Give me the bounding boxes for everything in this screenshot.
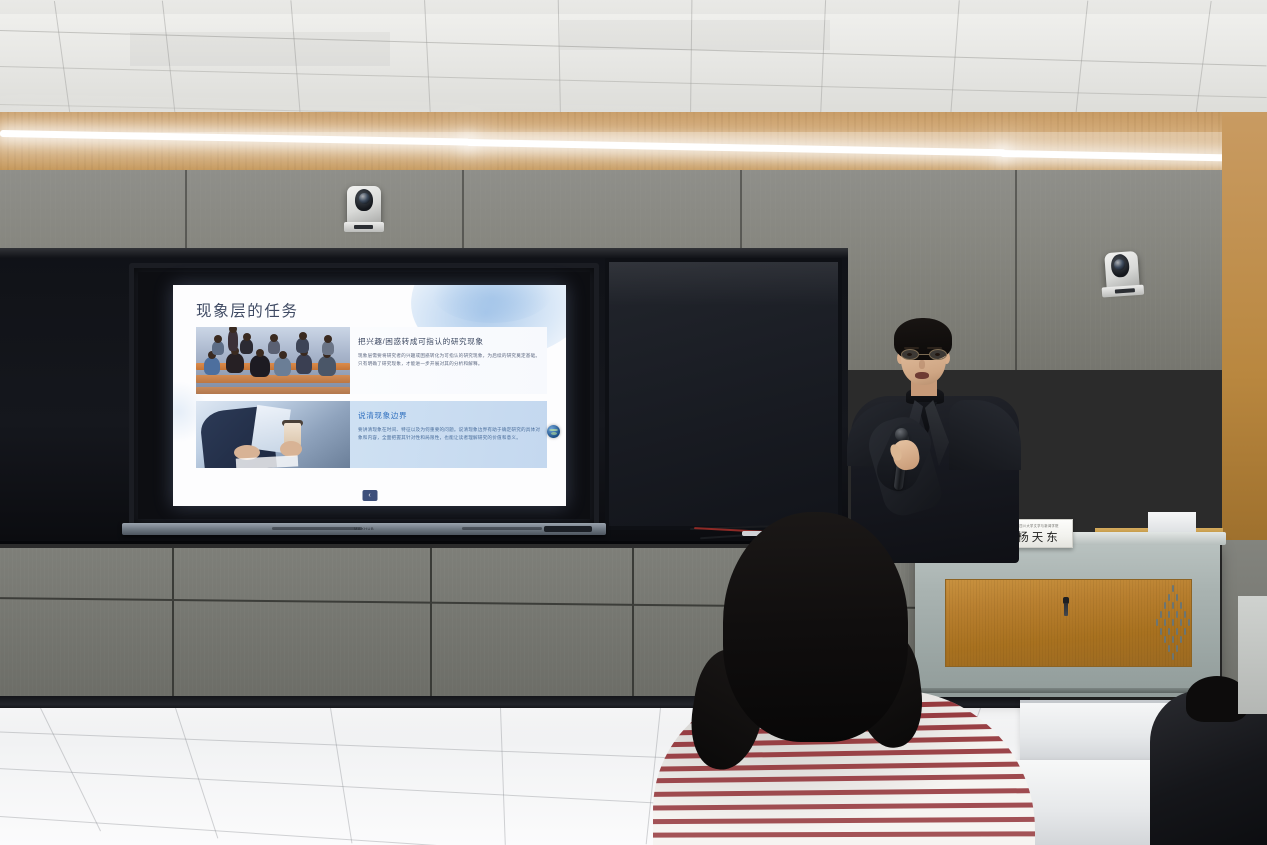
lectern-wood-grain: [991, 580, 992, 666]
lectern-wood-grain: [952, 580, 953, 666]
lectern-wood-grain: [1072, 580, 1073, 666]
grille-slot: [1180, 602, 1182, 609]
photo-student-head: [279, 351, 287, 359]
presentation-slide[interactable]: 现象层的任务 把兴趣/困惑转成可指认的研究现象 现象层需要将研究者的兴趣或困惑转…: [173, 285, 566, 506]
panel-grain-line: [604, 548, 605, 700]
panel-grain-line: [572, 548, 573, 700]
wall-grain-line: [1185, 170, 1186, 370]
lectern-wood-grain: [964, 580, 965, 666]
panel-grain-line: [288, 548, 289, 700]
photo-student: [250, 355, 270, 377]
right-wall-door[interactable]: [1238, 596, 1267, 714]
business-person-coffee-photo: [196, 401, 350, 468]
lectern-wood-grain: [1102, 580, 1103, 666]
lectern-wood-grain: [1018, 580, 1019, 666]
panel-grain-line: [260, 548, 261, 700]
panel-grain-line: [192, 548, 193, 700]
panel-grain-line: [240, 548, 241, 700]
panel-grain-line: [0, 548, 1, 700]
photo-student-head: [324, 335, 332, 343]
photo-desk-row: [196, 375, 350, 383]
lectern-wood-grain: [949, 580, 950, 666]
panel-grain-line: [352, 548, 353, 700]
lectern-wood-grain: [955, 580, 956, 666]
panel-grain-line: [484, 548, 485, 700]
ceiling-tile-shade: [130, 32, 390, 66]
lectern-wood-grain: [1111, 580, 1112, 666]
lectern-wood-grain: [961, 580, 962, 666]
panel-grain-line: [256, 548, 257, 700]
grille-slot: [1176, 594, 1178, 601]
lectern-wood-grain: [1138, 580, 1139, 666]
grille-slot: [1164, 602, 1166, 609]
lectern-wood-grain: [1045, 580, 1046, 666]
panel-grain-line: [432, 548, 433, 700]
lectern-wood-grain: [1024, 580, 1025, 666]
secondary-display-off[interactable]: [605, 258, 842, 530]
lectern-wood-grain: [1000, 580, 1001, 666]
photo-student: [274, 357, 291, 376]
panel-grain-line: [388, 548, 389, 700]
panel-grain-line: [608, 548, 609, 700]
panel-grain-line: [404, 548, 405, 700]
panel-grain-line: [336, 548, 337, 700]
lectern-wood-grain: [1126, 580, 1127, 666]
panel-grain-line: [24, 548, 25, 700]
panel-grain-line: [332, 548, 333, 700]
panel-grain-line: [444, 548, 445, 700]
ceiling-grid-line-v: [54, 1, 71, 118]
ceiling-grid-line-v: [950, 0, 960, 118]
lectern-wood-grain: [1144, 580, 1145, 666]
right-wall-wood-strip: [1222, 112, 1267, 552]
lectern-wood-grain: [1030, 580, 1031, 666]
wall-grain-line: [1205, 170, 1206, 370]
grille-slot: [1160, 611, 1162, 618]
lectern-wood-grain: [1060, 580, 1061, 666]
panel-grain-line: [516, 548, 517, 700]
wall-grain-line: [1170, 170, 1171, 370]
photo-student: [296, 354, 312, 374]
base-vent-left: [272, 527, 362, 530]
panel-grain-line: [536, 548, 537, 700]
lectern-wood-grain: [1048, 580, 1049, 666]
panel-grain-line: [520, 548, 521, 700]
lectern-wood-grain: [1108, 580, 1109, 666]
panel-grain-line: [264, 548, 265, 700]
wall-grain-line: [1060, 170, 1061, 370]
panel-grain-line: [8, 548, 9, 700]
panel-grain-line: [628, 548, 629, 700]
lectern-wood-grain: [1009, 580, 1010, 666]
panel-grain-line: [40, 548, 41, 700]
panel-grain-line: [344, 548, 345, 700]
panel-seam-vertical: [172, 548, 174, 700]
panel-grain-line: [152, 548, 153, 700]
panel-grain-line: [120, 548, 121, 700]
panel-grain-line: [496, 548, 497, 700]
panel-grain-line: [204, 548, 205, 700]
photo-student: [204, 357, 220, 375]
panel-grain-line: [408, 548, 409, 700]
lectern-wood-grain: [973, 580, 974, 666]
wall-grain-line: [1080, 170, 1081, 370]
panel-grain-line: [180, 548, 181, 700]
photo-student-head: [256, 349, 264, 357]
grille-slot: [1164, 636, 1166, 643]
photo-paper: [236, 455, 298, 468]
lectern-wood-grain: [1132, 580, 1133, 666]
slide-title: 现象层的任务: [196, 299, 299, 321]
panel-grain-line: [372, 548, 373, 700]
panel-grain-line: [136, 548, 137, 700]
panel-grain-line: [176, 548, 177, 700]
panel-grain-line: [132, 548, 133, 700]
wall-grain-line: [1075, 170, 1076, 370]
panel-grain-line: [376, 548, 377, 700]
panel-grain-line: [500, 548, 501, 700]
lectern-wood-grain: [1096, 580, 1097, 666]
panel-grain-line: [276, 548, 277, 700]
display-brand-label: MAXHUB: [354, 526, 374, 531]
lectern-wood-grain: [1105, 580, 1106, 666]
panel-grain-line: [168, 548, 169, 700]
panel-grain-line: [620, 548, 621, 700]
grille-slot: [1172, 602, 1174, 609]
panel-grain-line: [364, 548, 365, 700]
panel-grain-line: [480, 548, 481, 700]
grille-slot: [1184, 628, 1186, 635]
panel-grain-line: [108, 548, 109, 700]
audience-member-striped-top: [645, 660, 1045, 845]
lectern-wood-grain: [994, 580, 995, 666]
grille-slot: [1168, 611, 1170, 618]
panel-grain-line: [468, 548, 469, 700]
panel-grain-line: [268, 548, 269, 700]
wall-grain-line: [1090, 170, 1091, 370]
panel-grain-line: [324, 548, 325, 700]
panel-grain-line: [564, 548, 565, 700]
panel-grain-line: [360, 548, 361, 700]
glasses-bridge: [919, 354, 929, 355]
lectern-wood-grain: [1054, 580, 1055, 666]
lectern-wood-grain: [988, 580, 989, 666]
lectern-wood-grain: [1015, 580, 1016, 666]
panel-grain-line: [244, 548, 245, 700]
panel-grain-line: [528, 548, 529, 700]
panel-grain-line: [212, 548, 213, 700]
panel-grain-line: [464, 548, 465, 700]
lectern-wood-grain: [1084, 580, 1085, 666]
lectern-wood-grain: [1150, 580, 1151, 666]
lectern-wood-grain: [1027, 580, 1028, 666]
wall-grain-line: [1055, 170, 1056, 370]
panel-grain-line: [156, 548, 157, 700]
panel-grain-line: [548, 548, 549, 700]
panel-grain-line: [512, 548, 513, 700]
panel-grain-line: [160, 548, 161, 700]
lectern-wood-grain: [1063, 580, 1064, 666]
photo-student-head: [243, 333, 251, 341]
ceiling-tile-shade: [560, 20, 830, 50]
slide-previous-label: ‹: [368, 492, 370, 499]
panel-grain-line: [560, 548, 561, 700]
grille-slot: [1168, 594, 1170, 601]
ceiling-grid-line-v: [820, 0, 826, 118]
slide-card-2: 说清现象边界 要讲清现象在时间、特征以及为何重要的问题。说清现象边界有助于确定研…: [196, 401, 547, 468]
panel-grain-line: [28, 548, 29, 700]
base-vent-right: [462, 527, 542, 530]
panel-grain-line: [224, 548, 225, 700]
camera-lens: [359, 193, 370, 204]
panel-grain-line: [448, 548, 449, 700]
wall-grain-line: [1215, 170, 1216, 370]
panel-grain-line: [36, 548, 37, 700]
lectern-wood-grain: [976, 580, 977, 666]
photo-hand-right: [280, 441, 302, 457]
photo-student: [318, 356, 336, 376]
panel-grain-line: [80, 548, 81, 700]
panel-grain-line: [596, 548, 597, 700]
panel-grain-line: [84, 548, 85, 700]
wall-grain-line: [1180, 170, 1181, 370]
lectern-wood-grain: [982, 580, 983, 666]
panel-grain-line: [636, 548, 637, 700]
panel-grain-line: [48, 548, 49, 700]
screen-reflection: [609, 262, 838, 306]
panel-grain-line: [556, 548, 557, 700]
panel-grain-line: [72, 548, 73, 700]
wall-grain-line: [1085, 170, 1086, 370]
panel-grain-line: [452, 548, 453, 700]
panel-grain-line: [64, 548, 65, 700]
panel-grain-line: [356, 548, 357, 700]
grille-slot: [1160, 628, 1162, 635]
panel-grain-line: [428, 548, 429, 700]
grille-slot: [1184, 611, 1186, 618]
panel-grain-line: [476, 548, 477, 700]
lectern-wood-grain: [1093, 580, 1094, 666]
display-base-bar: MAXHUB: [122, 523, 606, 535]
panel-grain-line: [228, 548, 229, 700]
grille-slot: [1180, 636, 1182, 643]
panel-grain-line: [252, 548, 253, 700]
panel-grain-line: [540, 548, 541, 700]
lectern-wood-grain: [967, 580, 968, 666]
lectern-wood-grain: [958, 580, 959, 666]
panel-grain-line: [4, 548, 5, 700]
grille-slot: [1176, 645, 1178, 652]
lectern-wood-grain: [1141, 580, 1142, 666]
panel-grain-line: [584, 548, 585, 700]
panel-grain-line: [456, 548, 457, 700]
panel-grain-line: [312, 548, 313, 700]
panel-grain-line: [588, 548, 589, 700]
grille-slot: [1176, 611, 1178, 618]
presenter: [845, 318, 1050, 563]
panel-grain-line: [60, 548, 61, 700]
slide-card-2-text: 要讲清现象在时间、特征以及为何重要的问题。说清现象边界有助于确定研究的具体对象和…: [358, 426, 541, 443]
panel-grain-line: [100, 548, 101, 700]
lectern-wood-grain: [970, 580, 971, 666]
panel-grain-line: [576, 548, 577, 700]
panel-grain-line: [44, 548, 45, 700]
wall-grain-line: [1210, 170, 1211, 370]
ptz-camera-left: [341, 186, 387, 236]
panel-grain-line: [296, 548, 297, 700]
panel-grain-line: [248, 548, 249, 700]
lectern-speaker-grille: [1152, 585, 1192, 663]
slide-previous-button[interactable]: ‹: [362, 490, 377, 501]
panel-grain-line: [440, 548, 441, 700]
photo-student: [296, 338, 309, 353]
ceiling-grid-line-v: [424, 0, 431, 118]
display-control-keys[interactable]: [544, 526, 592, 532]
photo-student-head: [214, 335, 222, 343]
panel-grain-line: [640, 548, 641, 700]
grille-slot: [1164, 619, 1166, 626]
photo-desk-row: [196, 387, 350, 394]
ceiling: [0, 0, 1267, 118]
lectern-wood-grain: [1036, 580, 1037, 666]
panel-grain-line: [412, 548, 413, 700]
panel-grain-line: [320, 548, 321, 700]
panel-grain-line: [272, 548, 273, 700]
wall-grain-line: [1155, 170, 1156, 370]
lectern-wood-grain: [1006, 580, 1007, 666]
panel-grain-line: [208, 548, 209, 700]
panel-grain-line: [400, 548, 401, 700]
grille-slot: [1168, 628, 1170, 635]
panel-grain-line: [328, 548, 329, 700]
lectern-wood-grain: [946, 580, 947, 666]
lectern-wood-grain: [1099, 580, 1100, 666]
panel-grain-line: [592, 548, 593, 700]
ceiling-grid-line-v: [690, 0, 692, 118]
panel-seam-vertical: [632, 548, 634, 700]
main-display[interactable]: 现象层的任务 把兴趣/困惑转成可指认的研究现象 现象层需要将研究者的兴趣或困惑转…: [129, 263, 599, 528]
globe-icon[interactable]: [547, 425, 560, 438]
wall-grain-line: [1065, 170, 1066, 370]
panel-grain-line: [200, 548, 201, 700]
slide-card-2-body: 说清现象边界 要讲清现象在时间、特征以及为何重要的问题。说清现象边界有助于确定研…: [358, 401, 541, 468]
panel-grain-line: [96, 548, 97, 700]
housing-gloss: [0, 248, 848, 258]
panel-grain-line: [112, 548, 113, 700]
panel-grain-line: [300, 548, 301, 700]
panel-grain-line: [416, 548, 417, 700]
panel-grain-line: [284, 548, 285, 700]
panel-grain-line: [20, 548, 21, 700]
wall-grain-line: [1150, 170, 1151, 370]
lectern-wood-grain: [1078, 580, 1079, 666]
panel-grain-line: [580, 548, 581, 700]
panel-grain-line: [92, 548, 93, 700]
panel-grain-line: [220, 548, 221, 700]
panel-grain-line: [368, 548, 369, 700]
grille-slot: [1176, 628, 1178, 635]
wall-grain-line: [1160, 170, 1161, 370]
panel-grain-line: [280, 548, 281, 700]
panel-grain-line: [600, 548, 601, 700]
panel-grain-line: [472, 548, 473, 700]
panel-grain-line: [164, 548, 165, 700]
panel-grain-line: [544, 548, 545, 700]
panel-grain-line: [124, 548, 125, 700]
side-table-white-top: [1148, 512, 1196, 534]
ceiling-grid-line-v: [1195, 1, 1212, 118]
panel-grain-line: [104, 548, 105, 700]
lectern-wood-grain: [1066, 580, 1067, 666]
panel-grain-line: [424, 548, 425, 700]
panel-grain-line: [420, 548, 421, 700]
photo-student-head: [299, 332, 307, 340]
panel-grain-line: [384, 548, 385, 700]
lectern-wood-grain: [1057, 580, 1058, 666]
lectern-wood-grain: [1117, 580, 1118, 666]
panel-grain-line: [436, 548, 437, 700]
grille-slot: [1188, 619, 1190, 626]
panel-grain-line: [236, 548, 237, 700]
panel-grain-line: [76, 548, 77, 700]
wall-grain-line: [1195, 170, 1196, 370]
panel-grain-line: [148, 548, 149, 700]
wall-grain-line: [1175, 170, 1176, 370]
photo-student: [212, 341, 224, 355]
panel-grain-line: [392, 548, 393, 700]
panel-grain-line: [460, 548, 461, 700]
lectern-wood-grain: [1129, 580, 1130, 666]
panel-grain-line: [532, 548, 533, 700]
panel-grain-line: [616, 548, 617, 700]
lectern-wood-grain: [1021, 580, 1022, 666]
lectern-wood-grain: [985, 580, 986, 666]
slide-card-2-heading: 说清现象边界: [358, 410, 541, 421]
lectern-wood-grain: [1123, 580, 1124, 666]
panel-grain-line: [524, 548, 525, 700]
panel-grain-line: [568, 548, 569, 700]
panel-seam-vertical: [430, 548, 432, 700]
panel-grain-line: [624, 548, 625, 700]
presenter-nose: [919, 360, 925, 369]
grille-slot: [1172, 653, 1174, 660]
wall-grain-line: [1095, 170, 1096, 370]
panel-grain-line: [488, 548, 489, 700]
wall-grain-line: [1220, 170, 1221, 370]
lectern-key[interactable]: [1064, 603, 1068, 616]
lecture-room-scene: 现象层的任务 把兴趣/困惑转成可指认的研究现象 现象层需要将研究者的兴趣或困惑转…: [0, 0, 1267, 845]
grille-slot: [1172, 585, 1174, 592]
panel-grain-line: [12, 548, 13, 700]
panel-grain-line: [52, 548, 53, 700]
panel-grain-line: [56, 548, 57, 700]
lecture-hall-students-photo: [196, 327, 350, 394]
lectern-wood-grain: [1090, 580, 1091, 666]
panel-grain-line: [216, 548, 217, 700]
grille-slot: [1180, 619, 1182, 626]
lectern-wood-grain: [979, 580, 980, 666]
wall-grain-line: [1070, 170, 1071, 370]
lectern-wood-grain: [1003, 580, 1004, 666]
panel-grain-line: [508, 548, 509, 700]
panel-grain-line: [116, 548, 117, 700]
panel-grain-line: [196, 548, 197, 700]
photo-student: [240, 339, 253, 354]
slide-card-1-heading: 把兴趣/困惑转成可指认的研究现象: [358, 336, 541, 347]
slide-card-1: 把兴趣/困惑转成可指认的研究现象 现象层需要将研究者的兴趣或困惑转化为可指认的研…: [196, 327, 547, 394]
audience-hair: [723, 512, 908, 742]
lectern-wood-grain: [1042, 580, 1043, 666]
